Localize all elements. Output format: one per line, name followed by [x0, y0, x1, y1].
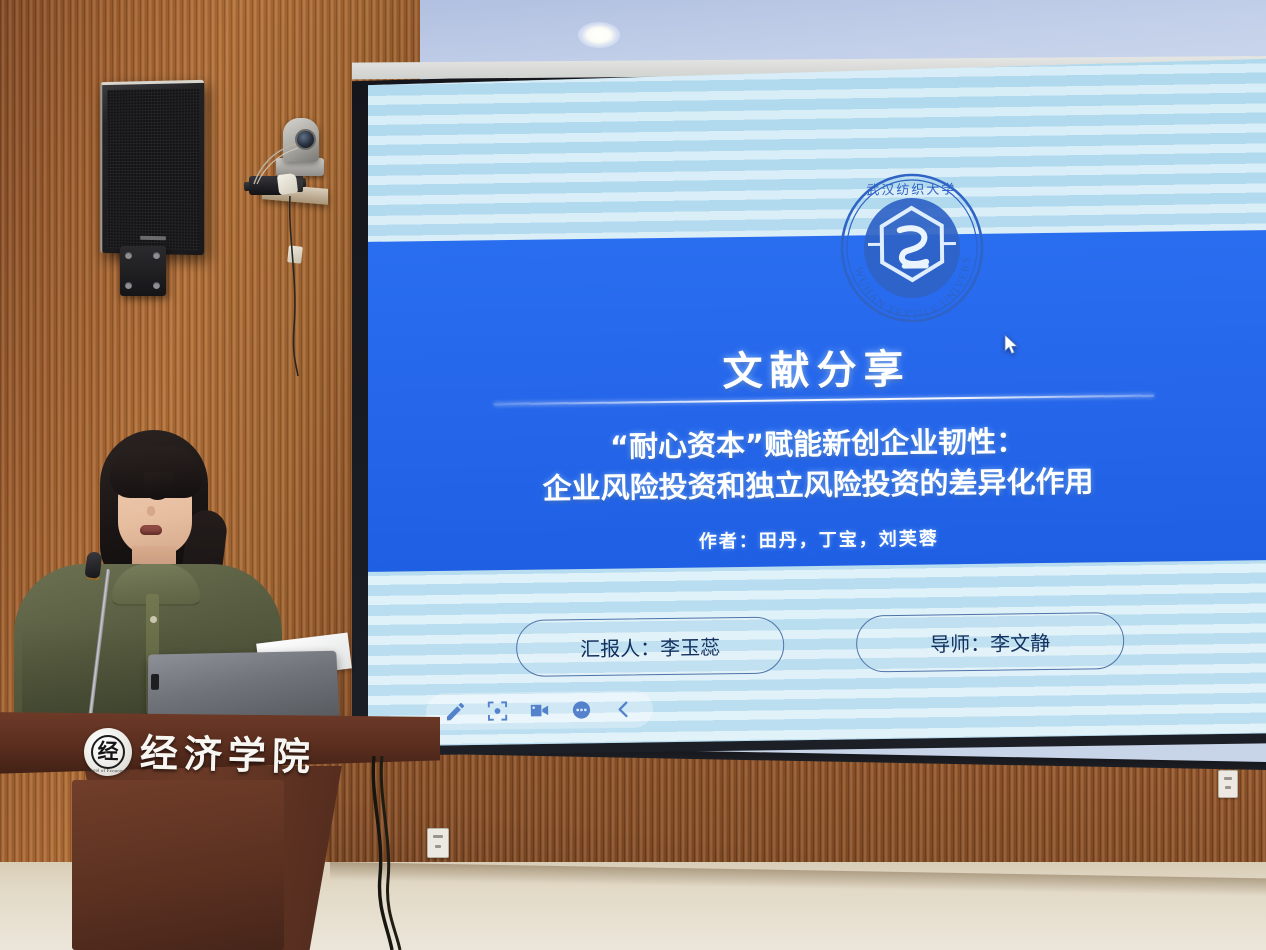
presentation-toolbar[interactable] [426, 691, 653, 731]
microphone-icon [84, 551, 102, 579]
advisor-pill: 导师：李文静 [856, 612, 1125, 673]
mouse-pointer-icon [1004, 334, 1019, 356]
led-display-screen[interactable]: 武汉纺织大学 WUHAN TEXTILE UNIVERSITY 文献分享 “耐心… [352, 56, 1266, 756]
ceiling-light-1-icon [578, 22, 620, 48]
focus-icon[interactable] [486, 699, 509, 722]
mouth [140, 525, 162, 535]
seal-character: 经 [97, 741, 119, 763]
wall-outlet-right [1218, 770, 1238, 798]
presenter-pill: 汇报人：李玉蕊 [516, 616, 785, 677]
seal-english-text: School of Economics [85, 767, 129, 773]
speaker-badge [140, 236, 166, 240]
slide-authors: 作者：田丹，丁宝，刘芙蓉 [370, 520, 1266, 558]
lecture-hall-scene: 武汉纺织大学 WUHAN TEXTILE UNIVERSITY 文献分享 “耐心… [0, 0, 1266, 950]
speaker-mount-bracket [120, 246, 166, 296]
slide-subtitle: “耐心资本”赋能新创企业韧性： 企业风险投资和独立风险投资的差异化作用 [368, 418, 1266, 512]
wall-sticker [287, 245, 303, 263]
podium-front-panel [72, 780, 284, 950]
chevron-left-icon[interactable] [612, 698, 635, 721]
jacket-button [150, 616, 157, 623]
wall-outlet-left [427, 828, 449, 858]
school-of-economics-seal-icon: 经 School of Economics [83, 727, 132, 776]
more-icon[interactable] [570, 698, 593, 721]
slide-credits-row: 汇报人：李玉蕊 导师：李文静 [371, 610, 1266, 679]
laptop-port [151, 674, 159, 690]
slide-heading: 文献分享 [368, 332, 1266, 402]
hair-fringe [110, 446, 202, 498]
wall-speaker [100, 80, 204, 255]
podium-label: 经济学院 [139, 722, 316, 781]
slide-canvas[interactable]: 武汉纺织大学 WUHAN TEXTILE UNIVERSITY 文献分享 “耐心… [368, 56, 1266, 750]
camcorder-icon[interactable] [528, 699, 551, 722]
camera-wiring [252, 140, 312, 186]
nose [147, 506, 155, 516]
speaker-grill [107, 88, 199, 250]
pen-icon[interactable] [444, 700, 467, 723]
